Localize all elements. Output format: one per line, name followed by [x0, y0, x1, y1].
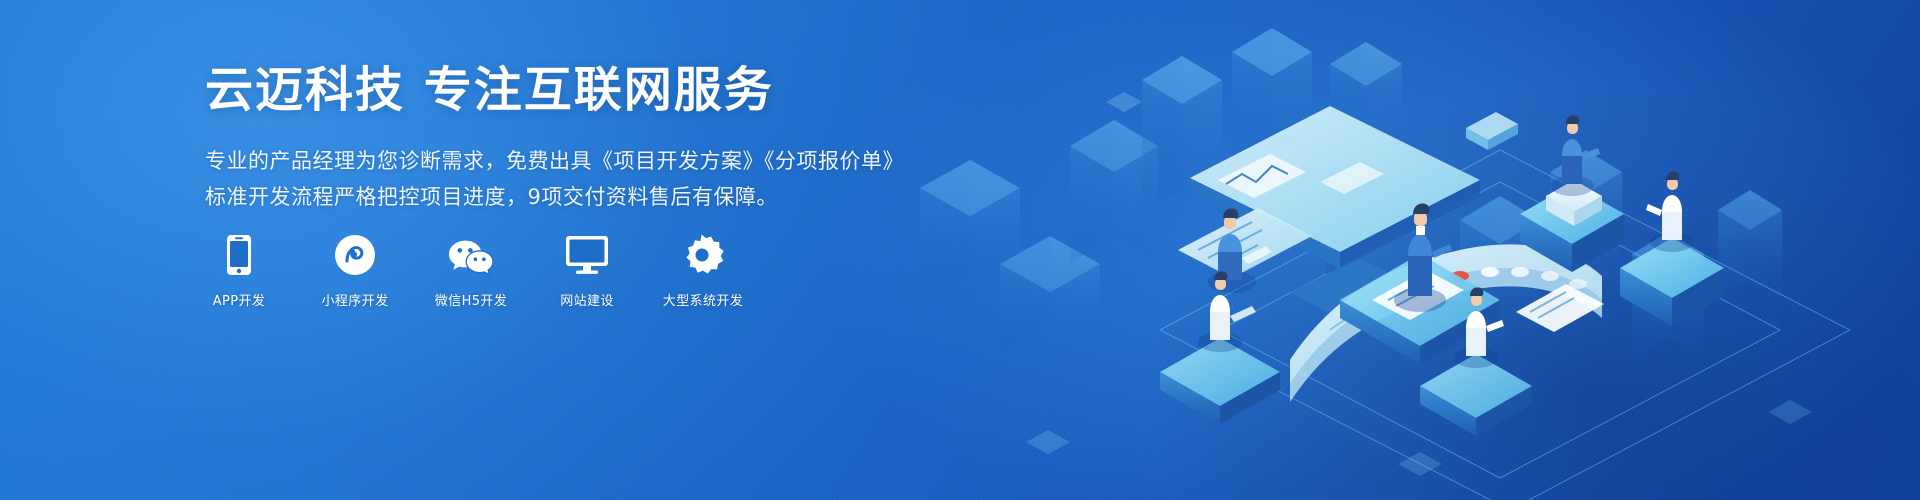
service-item-website[interactable]: 网站建设 [553, 232, 621, 309]
person-right-upper [1550, 115, 1600, 196]
person-right-lower [1646, 171, 1694, 252]
service-label: 大型系统开发 [663, 290, 743, 309]
floating-ui-cards [1466, 112, 1518, 150]
service-list: APP开发 小程序开发 [205, 232, 737, 309]
service-label: 网站建设 [560, 290, 614, 309]
mobile-phone-icon [216, 232, 262, 278]
service-item-large-system[interactable]: 大型系统开发 [669, 232, 737, 309]
service-label: APP开发 [213, 290, 266, 309]
wechat-icon [448, 232, 494, 278]
subtitle-line-1: 专业的产品经理为您诊断需求，免费出具《项目开发方案》《分项报价单》 [205, 143, 905, 179]
monitor-icon [564, 232, 610, 278]
gear-icon [680, 232, 726, 278]
banner-subtitle: 专业的产品经理为您诊断需求，免费出具《项目开发方案》《分项报价单》 标准开发流程… [205, 143, 905, 215]
subtitle-line-2: 标准开发流程严格把控项目进度，9项交付资料售后有保障。 [205, 179, 905, 215]
service-item-wechat-h5[interactable]: 微信H5开发 [437, 232, 505, 309]
service-item-app[interactable]: APP开发 [205, 232, 273, 309]
service-label: 小程序开发 [321, 290, 388, 309]
page-title: 云迈科技 专注互联网服务 [205, 64, 905, 117]
promo-banner: 云迈科技 专注互联网服务 专业的产品经理为您诊断需求，免费出具《项目开发方案》《… [0, 0, 1920, 500]
mini-program-icon [332, 232, 378, 278]
service-item-mini-program[interactable]: 小程序开发 [321, 232, 389, 309]
service-label: 微信H5开发 [435, 290, 507, 309]
isometric-illustration [860, 0, 1920, 500]
banner-copy: 云迈科技 专注互联网服务 专业的产品经理为您诊断需求，免费出具《项目开发方案》《… [205, 64, 905, 215]
